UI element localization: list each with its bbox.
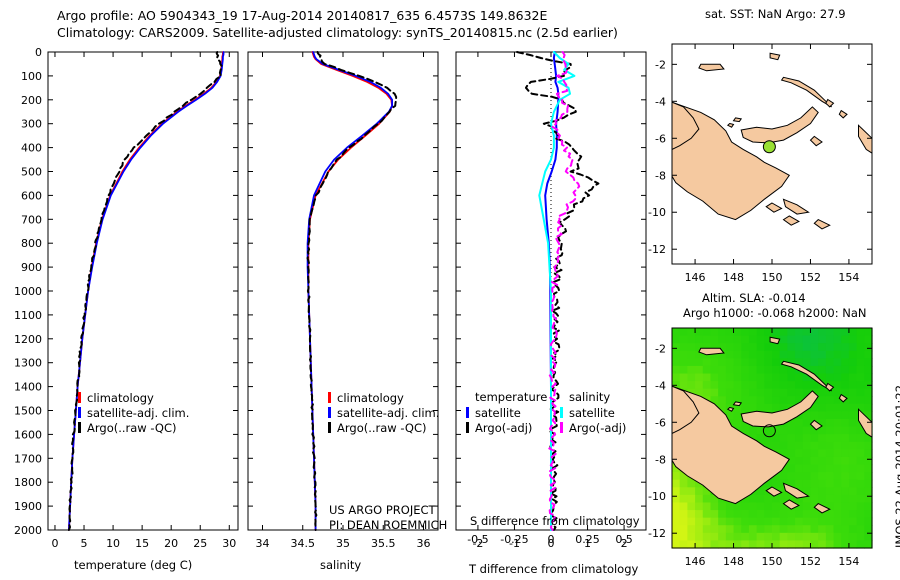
depth-tick-label: 400 <box>21 142 42 155</box>
legend-label-climatology: climatology <box>337 391 404 405</box>
panel-frame-0 <box>48 52 238 530</box>
legend-swatch-temperature-satellite <box>466 407 469 418</box>
bottom-map-landmass-new-britain <box>741 391 818 427</box>
legend-label-climatology: climatology <box>87 391 154 405</box>
bottom-map-profile-marker <box>763 425 775 437</box>
depth-tick-label: 100 <box>21 70 42 83</box>
panel-frame-1 <box>248 52 438 530</box>
bottom-map-landmass-island-7 <box>784 500 799 509</box>
bottom-map-frame <box>672 328 872 548</box>
depth-tick-label: 300 <box>21 118 42 131</box>
x-tick-label: 30 <box>222 537 236 550</box>
x-tick-label-top: -0.25 <box>500 533 528 546</box>
panel-frame-2 <box>456 52 646 530</box>
depth-tick-label: 1700 <box>14 452 42 465</box>
x-tick-label: 10 <box>106 537 120 550</box>
top-map-y-tick-label: -8 <box>655 169 666 182</box>
bottom-map-landmass-island-2 <box>826 384 834 391</box>
depth-tick-label: 1600 <box>14 428 42 441</box>
top-map-sea <box>672 44 872 264</box>
top-map-landmass-new-ireland <box>782 77 832 107</box>
top-map-profile-marker <box>763 141 775 153</box>
x-tick-label-top: -0.5 <box>467 533 488 546</box>
x-tick-label: 35.5 <box>371 537 396 550</box>
top-map-landmass-new-britain <box>741 107 818 143</box>
top-map-landmass-island-1 <box>728 124 734 128</box>
temperature-legend: climatology satellite-adj. clim. Argo(..… <box>78 390 189 435</box>
depth-tick-label: 1000 <box>14 285 42 298</box>
bottom-map-landmass-new-ireland <box>782 361 832 391</box>
bottom-map-x-tick-label: 148 <box>723 555 744 568</box>
top-map-title: sat. SST: NaN Argo: 27.9 <box>705 7 846 21</box>
legend-label-salinity-satellite: satellite <box>569 406 615 420</box>
bottom-map-x-tick-label: 146 <box>685 555 706 568</box>
top-map-landmass-island-4 <box>811 136 823 145</box>
bottom-map-y-tick-label: -2 <box>655 342 666 355</box>
data-series <box>308 52 397 530</box>
x-tick-label: 20 <box>164 537 178 550</box>
page-title-line1: Argo profile: AO 5904343_19 17-Aug-2014 … <box>57 8 547 23</box>
depth-tick-label: 600 <box>21 189 42 202</box>
depth-tick-label: 700 <box>21 213 42 226</box>
top-map-landmass-island-6 <box>814 220 829 229</box>
depth-tick-label: 500 <box>21 166 42 179</box>
x-tick-label-top: 0.25 <box>575 533 600 546</box>
data-series <box>545 52 558 530</box>
top-map-landmass-png <box>672 102 789 219</box>
legend-swatch-satellite-adj <box>328 407 331 418</box>
depth-tick-label: 1300 <box>14 357 42 370</box>
data-series <box>69 52 224 530</box>
legend-swatch-temperature-argo <box>466 422 469 433</box>
depth-tick-label: 1900 <box>14 500 42 513</box>
depth-tick-label: 1100 <box>14 309 42 322</box>
data-series <box>308 52 393 530</box>
bottom-map-sla-raster <box>672 328 873 549</box>
bottom-map-sea <box>672 328 872 548</box>
difference-legend-temperature: temperature satellite Argo(-adj) <box>466 390 547 435</box>
difference-legend-salinity: salinity satellite Argo(-adj) <box>560 390 626 435</box>
bottom-map-landmass-png <box>672 386 789 503</box>
bottom-map-landmass-manus <box>699 348 724 355</box>
salinity-axis-label: salinity <box>320 558 361 572</box>
top-map-landmass-manus <box>699 64 724 71</box>
legend-title-salinity: salinity <box>560 390 626 405</box>
bottom-map-landmass-island-1 <box>728 408 734 412</box>
depth-tick-label: 2000 <box>14 524 42 537</box>
data-series <box>308 52 392 530</box>
top-map-landmass-island-7 <box>784 216 799 225</box>
x-tick-label: 2 <box>621 537 628 550</box>
x-tick-label: 0 <box>548 537 555 550</box>
project-label: US ARGO PROJECT <box>329 503 436 517</box>
legend-label-temperature-satellite: satellite <box>475 406 521 420</box>
legend-label-satellite-adj: satellite-adj. clim. <box>337 406 439 420</box>
x-tick-label: 15 <box>135 537 149 550</box>
data-series <box>517 52 598 530</box>
legend-swatch-salinity-argo <box>560 422 563 433</box>
bottom-map-landmass-island-6 <box>814 504 829 513</box>
bottom-map-title-line2: Argo h1000: -0.068 h2000: NaN <box>683 306 867 320</box>
depth-tick-label: 1400 <box>14 381 42 394</box>
legend-label-argo: Argo(..raw -QC) <box>87 421 177 435</box>
x-tick-label: 25 <box>193 537 207 550</box>
bottom-map-landmass-island-3 <box>839 395 847 402</box>
bottom-map-y-tick-label: -8 <box>655 453 666 466</box>
bottom-map-x-tick-label: 152 <box>800 555 821 568</box>
legend-label-temperature-argo: Argo(-adj) <box>475 421 532 435</box>
legend-label-satellite-adj: satellite-adj. clim. <box>87 406 189 420</box>
bottom-map-landmass-bougainville <box>859 409 873 437</box>
top-map-landmass-island-2 <box>826 100 834 107</box>
top-map-x-tick-label: 154 <box>838 271 859 284</box>
x-tick-label: 35 <box>336 537 350 550</box>
top-map-landmass-island-5 <box>766 203 781 212</box>
bottom-map-y-tick-label: -10 <box>648 490 666 503</box>
data-series <box>549 52 579 530</box>
salinity-legend: climatology satellite-adj. clim. Argo(..… <box>328 390 439 435</box>
top-map-x-tick-label: 148 <box>723 271 744 284</box>
top-map-landmass-island-3 <box>839 111 847 118</box>
top-map-y-tick-label: -2 <box>655 58 666 71</box>
depth-tick-label: 1800 <box>14 476 42 489</box>
top-map-x-tick-label: 150 <box>762 271 783 284</box>
x-tick-label: 1 <box>584 537 591 550</box>
depth-tick-label: 900 <box>21 261 42 274</box>
top-map-y-tick-label: -4 <box>655 95 666 108</box>
legend-swatch-salinity-satellite <box>560 407 563 418</box>
bottom-map-y-tick-label: -6 <box>655 416 666 429</box>
depth-tick-label: 800 <box>21 237 42 250</box>
top-map-landmass-png-nw <box>672 102 699 149</box>
top-map-landmass-admiralty <box>770 53 780 60</box>
legend-swatch-argo <box>78 422 81 433</box>
x-tick-label-top: 0 <box>548 533 555 546</box>
depth-tick-label: 200 <box>21 94 42 107</box>
difference-axis-label-bottom: T difference from climatology <box>469 562 638 576</box>
x-tick-label: 34 <box>255 537 269 550</box>
legend-swatch-climatology <box>328 392 331 403</box>
page-title-line2: Climatology: CARS2009. Satellite-adjuste… <box>57 25 618 40</box>
bottom-map-landmass-dentrecasteaux <box>784 483 809 498</box>
top-map-y-tick-label: -10 <box>648 206 666 219</box>
bottom-map-landmass-admiralty <box>770 337 780 344</box>
legend-label-salinity-argo: Argo(-adj) <box>569 421 626 435</box>
data-series <box>69 52 223 530</box>
legend-title-temperature: temperature <box>466 390 547 405</box>
x-tick-label: 36 <box>417 537 431 550</box>
temperature-axis-label: temperature (deg C) <box>74 558 192 572</box>
top-map-y-tick-label: -12 <box>648 243 666 256</box>
bottom-map-y-tick-label: -4 <box>655 379 666 392</box>
legend-swatch-satellite-adj <box>78 407 81 418</box>
top-map-landmass-dentrecasteaux <box>784 199 809 214</box>
imos-timestamp: IMOS 22-Aug-2014 20:01:22 <box>893 385 900 548</box>
top-map-landmass-island-0 <box>734 118 742 122</box>
depth-tick-label: 0 <box>35 46 42 59</box>
x-tick-label: -1 <box>509 537 520 550</box>
top-map-landmass-bougainville <box>859 125 873 153</box>
top-map-x-tick-label: 146 <box>685 271 706 284</box>
x-tick-label: 34.5 <box>290 537 315 550</box>
bottom-map-x-tick-label: 154 <box>838 555 859 568</box>
legend-label-argo: Argo(..raw -QC) <box>337 421 427 435</box>
data-series <box>539 52 574 530</box>
x-tick-label-top: 0.5 <box>615 533 633 546</box>
x-tick-label: 0 <box>51 537 58 550</box>
depth-tick-label: 1500 <box>14 405 42 418</box>
bottom-map-landmass-png-nw <box>672 386 699 433</box>
bottom-map-landmass-island-0 <box>734 402 742 406</box>
bottom-map-landmass-island-5 <box>766 487 781 496</box>
depth-tick-label: 1200 <box>14 333 42 346</box>
bottom-map-landmass-island-4 <box>811 420 823 429</box>
top-map-frame <box>672 44 872 264</box>
bottom-map-title-line1: Altim. SLA: -0.014 <box>702 291 806 305</box>
top-map-x-tick-label: 152 <box>800 271 821 284</box>
x-tick-label: 5 <box>81 537 88 550</box>
bottom-map-x-tick-label: 150 <box>762 555 783 568</box>
data-series <box>69 52 222 530</box>
legend-swatch-climatology <box>78 392 81 403</box>
legend-swatch-argo <box>328 422 331 433</box>
pi-label: PI: DEAN ROEMMICH <box>329 518 447 532</box>
top-map-y-tick-label: -6 <box>655 132 666 145</box>
x-tick-label: -2 <box>472 537 483 550</box>
bottom-map-y-tick-label: -12 <box>648 527 666 540</box>
difference-axis-label-top: S difference from climatology <box>470 514 640 528</box>
